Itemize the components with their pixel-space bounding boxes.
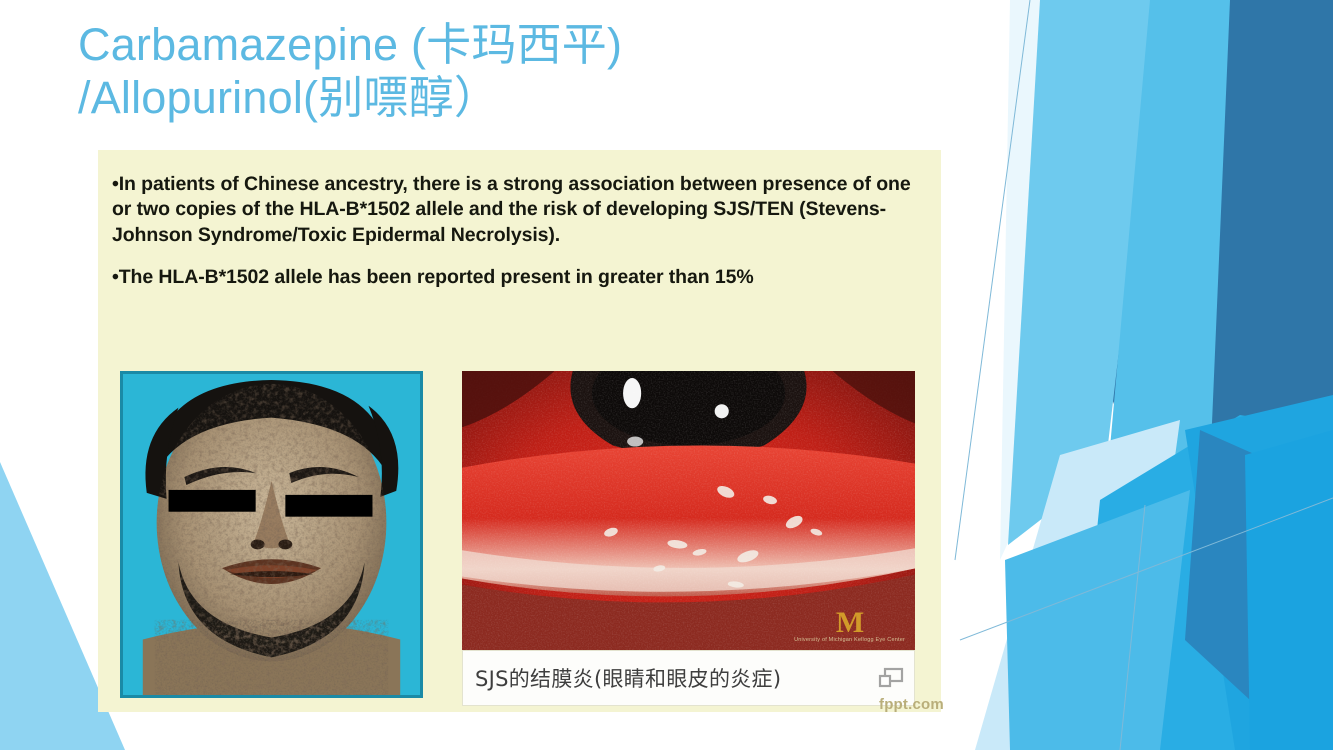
image-caption-bar: SJS的结膜炎(眼睛和眼皮的炎症)	[462, 650, 915, 706]
deco-hairline-1	[955, 0, 1030, 560]
deco-shape-bright-2	[1185, 395, 1333, 750]
deco-hairline-2	[960, 498, 1333, 640]
presentation-slide: Carbamazepine (卡玛西平) /Allopurinol(别嘌醇） •…	[0, 0, 1333, 750]
deco-shape-light-2	[1108, 0, 1230, 470]
deco-shape-pale-2	[975, 420, 1180, 750]
slide-title-line-1: Carbamazepine (卡玛西平)	[78, 18, 908, 71]
deco-shape-dark-2	[1185, 430, 1290, 700]
deco-shape-light-1	[1008, 0, 1160, 545]
deco-shape-bright-3	[1245, 430, 1333, 750]
slide-title: Carbamazepine (卡玛西平) /Allopurinol(别嘌醇）	[78, 18, 908, 124]
bullet-item-1: •In patients of Chinese ancestry, there …	[112, 172, 924, 248]
um-watermark-text: University of Michigan Kellogg Eye Cente…	[794, 637, 905, 644]
deco-shape-mid-1	[1005, 490, 1190, 750]
fppt-watermark: fppt.com	[879, 696, 944, 713]
content-panel: •In patients of Chinese ancestry, there …	[98, 150, 941, 712]
photo-sjs-face	[120, 371, 423, 698]
slide-title-line-2: /Allopurinol(别嘌醇）	[78, 71, 908, 124]
censor-bar-left	[169, 490, 256, 512]
censor-bar-right	[285, 495, 372, 517]
bullet-item-2: •The HLA-B*1502 allele has been reported…	[112, 265, 924, 290]
photo-with-caption: M University of Michigan Kellogg Eye Cen…	[462, 371, 915, 711]
deco-hairline-3	[1120, 505, 1145, 750]
deco-shape-dark-right	[1090, 0, 1333, 640]
um-watermark-letter: M	[794, 609, 905, 636]
bullet-list: •In patients of Chinese ancestry, there …	[112, 172, 924, 307]
deco-shape-bright-1	[1075, 415, 1333, 750]
photo-sjs-face-render	[123, 374, 420, 695]
deco-shape-pale-1	[1000, 0, 1085, 560]
image-row: M University of Michigan Kellogg Eye Cen…	[98, 371, 941, 711]
um-watermark: M University of Michigan Kellogg Eye Cen…	[794, 609, 905, 644]
photo-sjs-conjunctivitis: M University of Michigan Kellogg Eye Cen…	[462, 371, 915, 650]
image-caption-text: SJS的结膜炎(眼睛和眼皮的炎症)	[475, 663, 781, 693]
restore-window-icon[interactable]	[878, 667, 904, 689]
